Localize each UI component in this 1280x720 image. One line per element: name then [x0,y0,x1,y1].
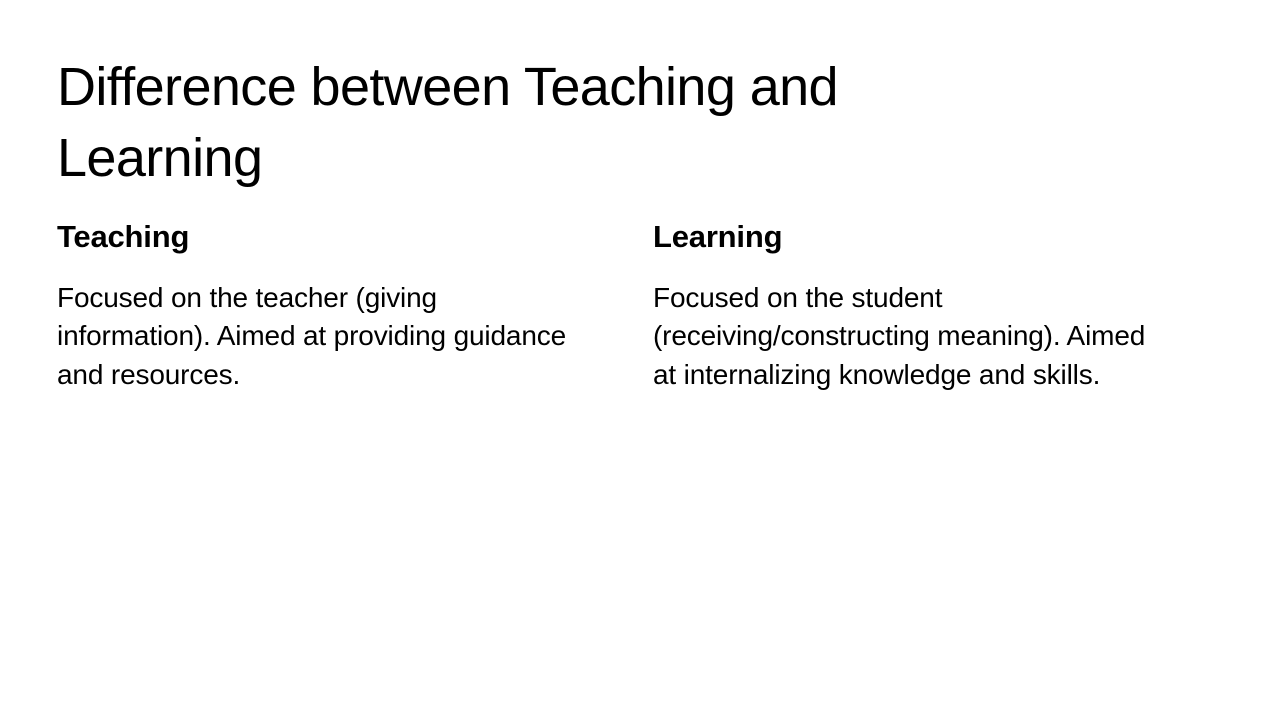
column-body-teaching: Focused on the teacher (giving informati… [57,279,572,395]
column-heading-learning: Learning [653,218,1168,257]
column-learning: Learning Focused on the student (receivi… [653,218,1168,395]
presentation-slide: Difference between Teaching and Learning… [0,0,1280,720]
column-teaching: Teaching Focused on the teacher (giving … [57,218,572,395]
page-title: Difference between Teaching and Learning [57,52,1057,195]
two-column-content: Teaching Focused on the teacher (giving … [57,218,1223,395]
column-body-learning: Focused on the student (receiving/constr… [653,279,1168,395]
column-heading-teaching: Teaching [57,218,572,257]
